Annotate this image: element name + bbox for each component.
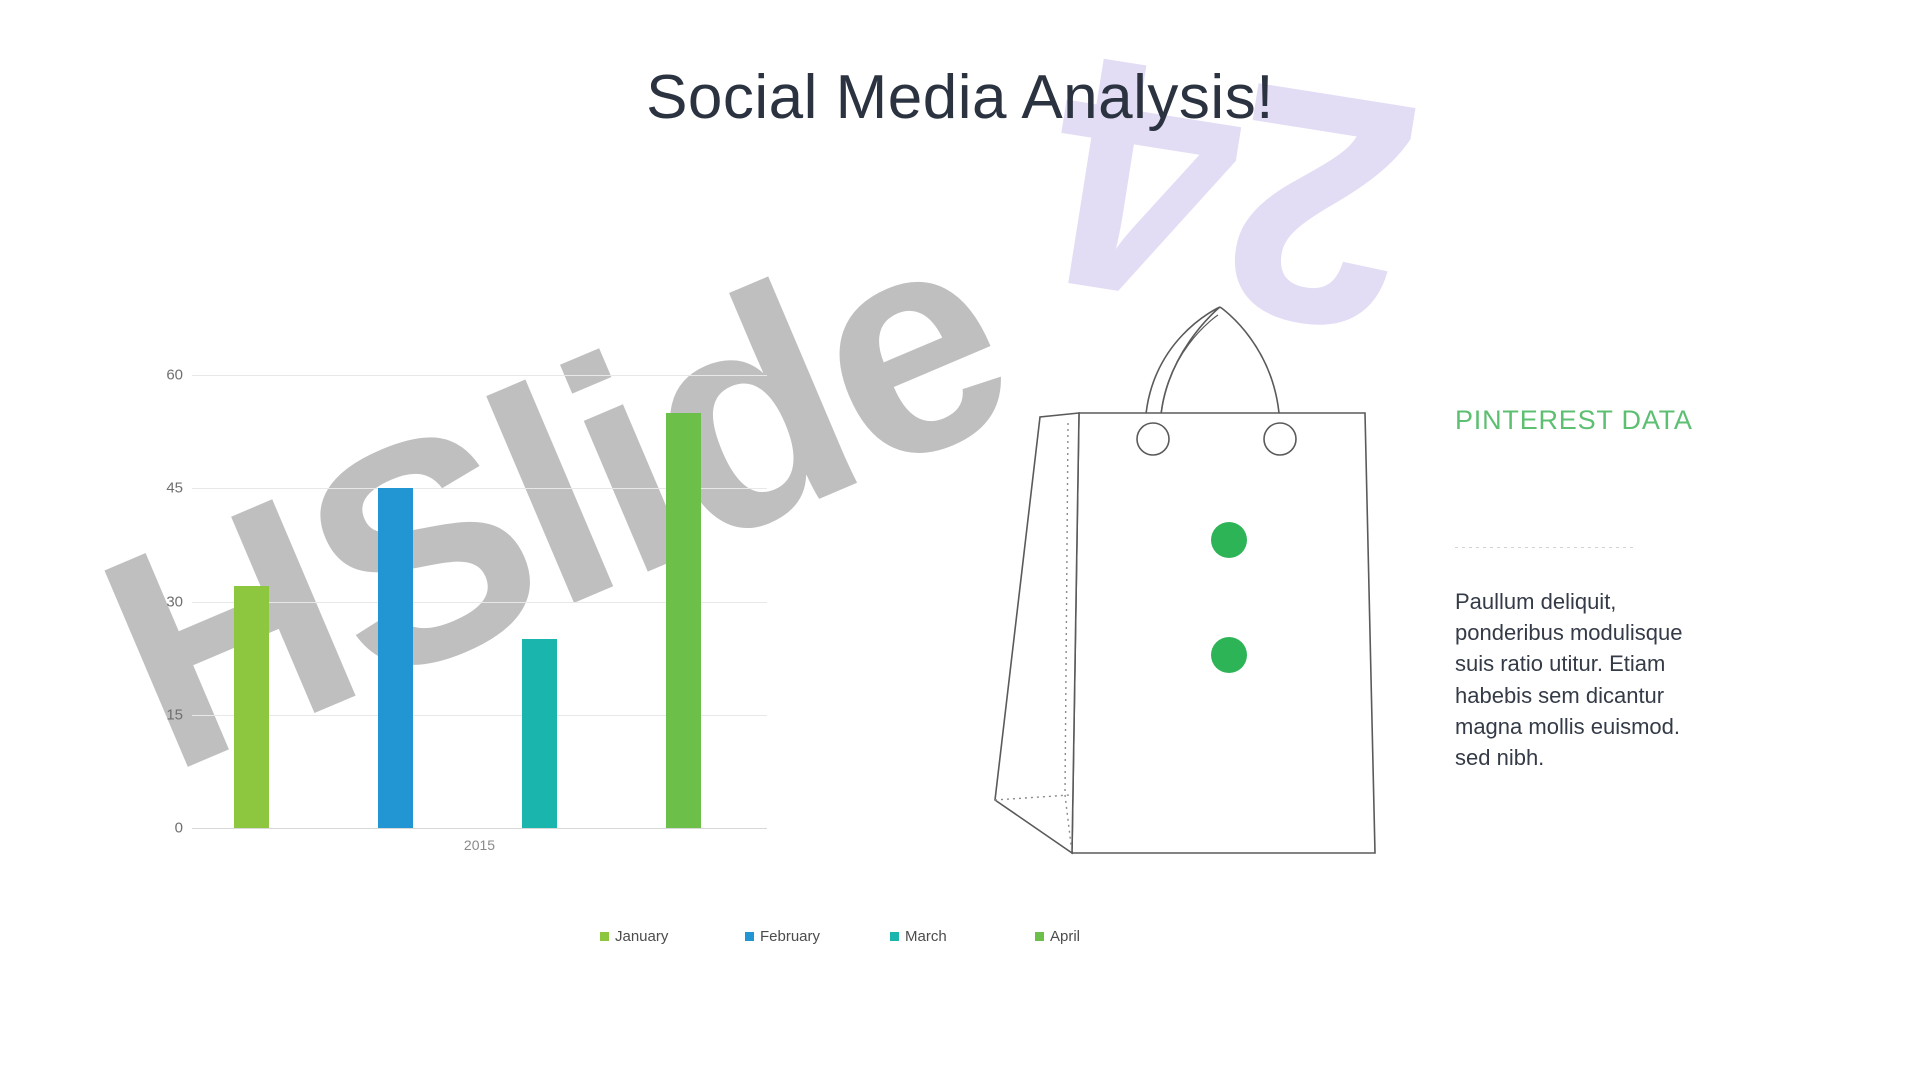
legend-item-january[interactable]: January — [600, 928, 745, 945]
legend-label: February — [760, 928, 820, 945]
panel-body-text: Paullum deliquit, ponderibus modulisque … — [1455, 586, 1705, 773]
panel-divider — [1455, 547, 1635, 548]
bar-march[interactable] — [522, 639, 557, 828]
chart-x-axis-label: 2015 — [192, 837, 767, 853]
y-axis-tick-0: 0 — [175, 820, 183, 837]
legend-label: April — [1050, 928, 1080, 945]
legend-swatch-icon — [600, 932, 609, 941]
shopping-bag-illustration — [960, 295, 1390, 875]
bar-chart: 604530150 2015 — [150, 350, 850, 990]
legend-label: March — [905, 928, 947, 945]
chart-plot-area: 604530150 2015 — [192, 375, 767, 828]
legend-item-april[interactable]: April — [1035, 928, 1180, 945]
bag-eyelet-left — [1137, 423, 1169, 455]
chart-bars — [192, 375, 767, 828]
legend-swatch-icon — [745, 932, 754, 941]
y-axis-tick-45: 45 — [166, 480, 183, 497]
panel-heading: PINTEREST DATA — [1455, 405, 1755, 436]
legend-item-february[interactable]: February — [745, 928, 890, 945]
legend-swatch-icon — [890, 932, 899, 941]
y-axis-tick-60: 60 — [166, 367, 183, 384]
bag-eyelet-right — [1264, 423, 1296, 455]
info-panel: PINTEREST DATA Paullum deliquit, ponderi… — [1455, 405, 1755, 773]
bar-february[interactable] — [378, 488, 413, 828]
bag-dot-top — [1211, 522, 1247, 558]
y-axis-tick-15: 15 — [166, 706, 183, 723]
bar-april[interactable] — [666, 413, 701, 828]
bag-front-face — [1072, 413, 1375, 853]
legend-item-march[interactable]: March — [890, 928, 1035, 945]
shopping-bag-icon — [960, 295, 1390, 875]
bar-january[interactable] — [234, 586, 269, 828]
legend-swatch-icon — [1035, 932, 1044, 941]
gridline-0: 0 — [192, 828, 767, 829]
slide-canvas: 24 HSlide Social Media Analysis! 6045301… — [0, 0, 1920, 1080]
legend-label: January — [615, 928, 668, 945]
page-title: Social Media Analysis! — [0, 62, 1920, 133]
bag-dot-bottom — [1211, 637, 1247, 673]
y-axis-tick-30: 30 — [166, 593, 183, 610]
chart-legend: JanuaryFebruaryMarchApril — [600, 928, 1180, 945]
